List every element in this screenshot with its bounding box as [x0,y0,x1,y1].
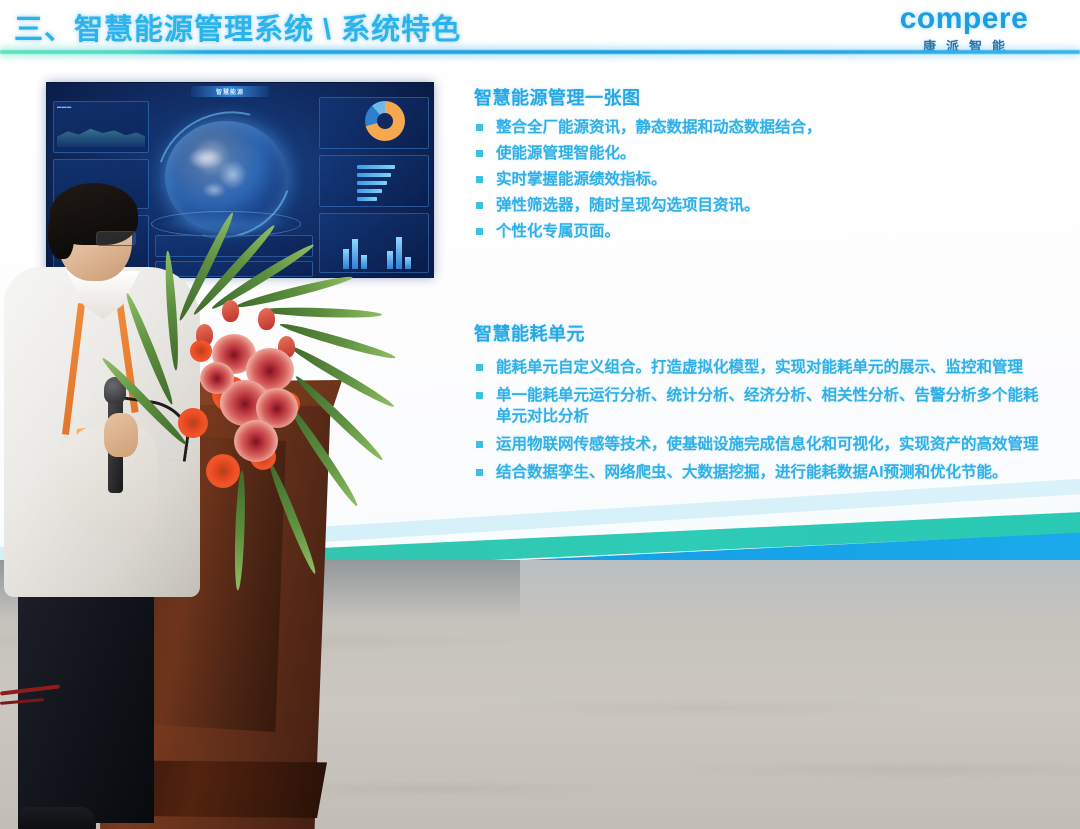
content-section-energy-unit: 智慧能耗单元 能耗单元自定义组合。打造虚拟化模型，实现对能耗单元的展示、监控和管… [474,320,1040,483]
slide-title: 三、智慧能源管理系统 \ 系统特色 [14,6,461,48]
dashboard-bar [343,249,349,269]
floral-arrangement [150,280,470,580]
palm-frond [279,320,397,362]
speaker-shoe [18,807,96,829]
content-section-overview: 智慧能源管理一张图 整合全厂能源资讯，静态数据和动态数据结合， 使能源管理智能化… [474,84,1040,242]
bullet-item: 实时掌握能源绩效指标。 [474,169,1040,190]
header-divider [0,50,1080,54]
dashboard-title-text: 智慧能源 [191,87,269,96]
dashboard-bar [361,255,367,269]
gerbera-flower [178,408,208,438]
palm-frond [262,306,382,319]
gerbera-flower [206,454,240,488]
dashboard-rank-bar [357,189,382,193]
dashboard-bar [387,251,393,269]
section-heading: 智慧能源管理一张图 [474,84,1040,110]
flower-bud [258,308,275,330]
bullet-list-overview: 整合全厂能源资讯，静态数据和动态数据结合， 使能源管理智能化。 实时掌握能源绩效… [474,117,1040,242]
bullet-list-energy-unit: 能耗单元自定义组合。打造虚拟化模型，实现对能耗单元的展示、监控和管理 单一能耗单… [474,357,1040,483]
bullet-item: 个性化专属页面。 [474,221,1040,242]
bullet-item: 能耗单元自定义组合。打造虚拟化模型，实现对能耗单元的展示、监控和管理 [474,357,1040,378]
donut-chart [365,101,405,141]
dashboard-bar [405,257,411,269]
dashboard-panel-bars [319,213,429,273]
lily-flower [200,362,234,394]
palm-frond [286,404,361,509]
speaker-hair-side [48,203,74,259]
bullet-item: 运用物联网传感等技术，使基础设施完成信息化和可视化，实现资产的高效管理 [474,434,1040,455]
bullet-item: 使能源管理智能化。 [474,143,1040,164]
palm-frond [293,373,386,463]
palm-frond [233,470,246,590]
bullet-item: 单一能耗单元运行分析、统计分析、经济分析、相关性分析、告警分析多个能耗单元对比分… [474,385,1040,427]
dashboard-rank-bar [357,173,391,177]
dashboard-title-bar: 智慧能源 [191,86,269,97]
flower-bud [222,300,239,322]
bullet-item: 整合全厂能源资讯，静态数据和动态数据结合， [474,117,1040,138]
dashboard-rank-bar [357,165,395,169]
dashboard-bar [396,237,402,269]
gerbera-flower [190,340,212,362]
section-heading: 智慧能耗单元 [474,320,1040,346]
dashboard-bar [352,239,358,269]
slide-content: 智慧能源管理一张图 整合全厂能源资讯，静态数据和动态数据结合， 使能源管理智能化… [474,84,1040,490]
slide-header: 三、智慧能源管理系统 \ 系统特色 compere 康派智能 [0,0,1080,52]
bullet-item: 结合数据孪生、网络爬虫、大数据挖掘，进行能耗数据AI预测和优化节能。 [474,462,1040,483]
dashboard-rank-bar [357,197,377,201]
palm-frond [266,461,319,576]
logo-wordmark: compere [864,3,1064,35]
speaker-legs [18,583,154,823]
speaker-hand [104,413,138,457]
lily-flower [234,420,278,462]
dashboard-rank-bar [357,181,387,185]
eyeglasses [96,231,136,246]
bullet-item: 弹性筛选器，随时呈现勾选项目资讯。 [474,195,1040,216]
